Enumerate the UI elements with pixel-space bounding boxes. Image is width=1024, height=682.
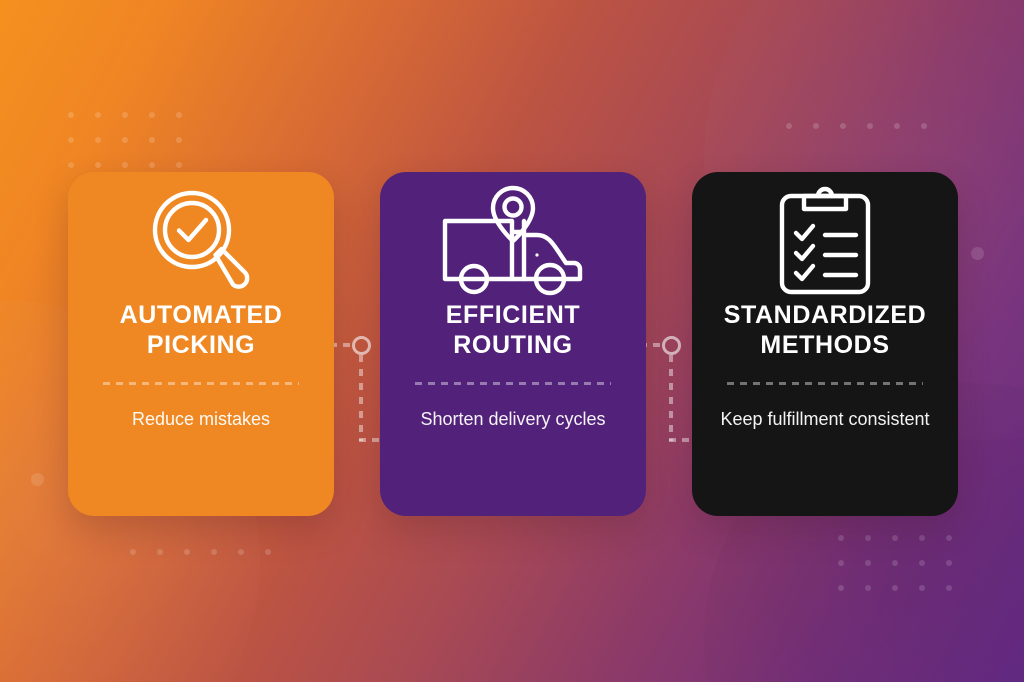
decorative-dot: [176, 112, 182, 118]
decorative-dot: [176, 137, 182, 143]
decorative-dot: [919, 585, 925, 591]
decorative-dot: [122, 137, 128, 143]
decorative-dot: [840, 123, 846, 129]
decorative-dot: [813, 123, 819, 129]
decorative-dot: [838, 560, 844, 566]
decorative-dot: [946, 585, 952, 591]
card-subtitle: Reduce mistakes: [110, 407, 292, 432]
decorative-dot: [867, 123, 873, 129]
decorative-dot: [149, 112, 155, 118]
decorative-dot: [68, 137, 74, 143]
card-subtitle: Keep fulfillment consistent: [698, 407, 951, 432]
card-title: STANDARDIZED METHODS: [692, 300, 958, 360]
connector-ring-icon: [662, 336, 681, 355]
card-title: AUTOMATED PICKING: [68, 300, 334, 360]
dot-grid-top-right: [786, 123, 948, 148]
decorative-dot: [946, 560, 952, 566]
card-divider: [103, 382, 299, 385]
decorative-dot: [68, 112, 74, 118]
decorative-dot: [149, 162, 155, 168]
decorative-dot: [838, 535, 844, 541]
delivery-truck-location-pin-icon: [380, 172, 646, 294]
decorative-dot: [946, 535, 952, 541]
decorative-dot: [95, 162, 101, 168]
connector-dash-vertical: [359, 355, 363, 441]
decorative-dot: [919, 560, 925, 566]
decorative-dot: [238, 549, 244, 555]
decorative-dot: [95, 112, 101, 118]
magnifier-check-icon: [68, 172, 334, 294]
decorative-dot: [211, 549, 217, 555]
decorative-dot: [892, 535, 898, 541]
card-efficient-routing[interactable]: EFFICIENT ROUTING Shorten delivery cycle…: [380, 172, 646, 516]
decorative-dot: [894, 123, 900, 129]
card-automated-picking[interactable]: AUTOMATED PICKING Reduce mistakes: [68, 172, 334, 516]
decorative-dot: [176, 162, 182, 168]
card-divider: [415, 382, 611, 385]
clipboard-checklist-icon: [692, 172, 958, 294]
decorative-dot: [130, 549, 136, 555]
connector-dash-vertical: [669, 355, 673, 441]
decorative-dot: [786, 123, 792, 129]
card-divider: [727, 382, 923, 385]
accent-dot-right: [971, 247, 984, 260]
decorative-dot: [865, 585, 871, 591]
card-title: EFFICIENT ROUTING: [380, 300, 646, 360]
decorative-dot: [921, 123, 927, 129]
decorative-dot: [95, 137, 101, 143]
decorative-dot: [865, 560, 871, 566]
infographic-canvas: AUTOMATED PICKING Reduce mistakes EFFICI…: [0, 0, 1024, 682]
decorative-dot: [157, 549, 163, 555]
decorative-dot: [68, 162, 74, 168]
card-subtitle: Shorten delivery cycles: [398, 407, 627, 432]
decorative-dot: [122, 112, 128, 118]
decorative-dot: [919, 535, 925, 541]
card-standardized-methods[interactable]: STANDARDIZED METHODS Keep fulfillment co…: [692, 172, 958, 516]
decorative-dot: [865, 535, 871, 541]
decorative-dot: [838, 585, 844, 591]
decorative-dot: [184, 549, 190, 555]
dot-grid-bottom-left: [130, 549, 292, 574]
decorative-dot: [265, 549, 271, 555]
dot-grid-bottom-right: [838, 535, 973, 610]
accent-dot-left: [31, 473, 44, 486]
connector-ring-icon: [352, 336, 371, 355]
decorative-dot: [892, 585, 898, 591]
decorative-dot: [149, 137, 155, 143]
decorative-dot: [892, 560, 898, 566]
decorative-dot: [122, 162, 128, 168]
